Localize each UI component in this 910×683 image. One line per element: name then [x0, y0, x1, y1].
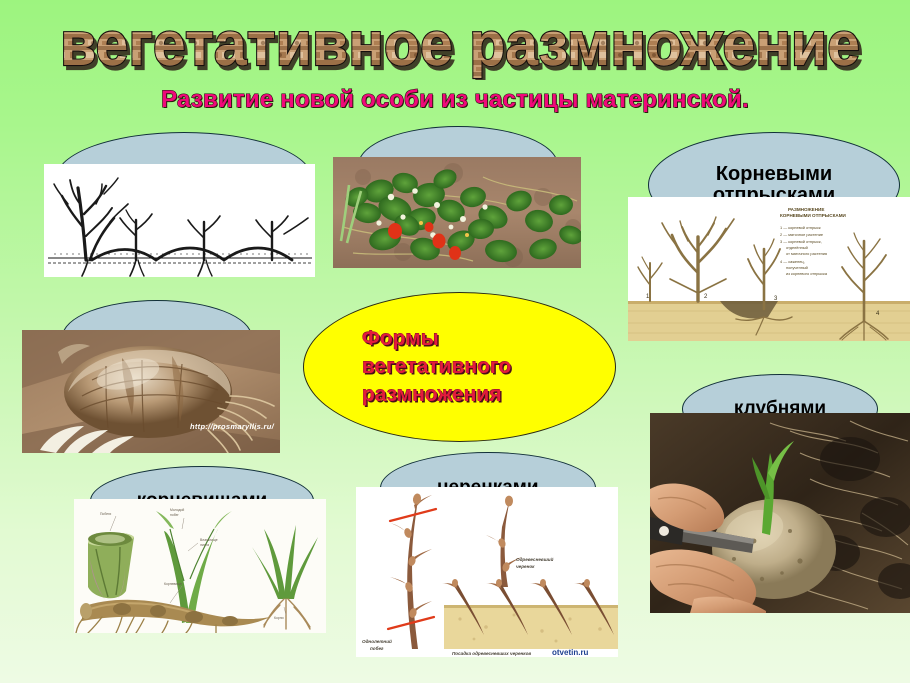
svg-text:побег: побег [370, 645, 384, 651]
panel-image-kornevymi-otpryskami: 1 2 3 4 РАЗМНОЖЕНИЕ КОРНЕВЫМИ ОТПРЫСКАМИ… [628, 197, 910, 341]
svg-text:побег: побег [170, 513, 180, 517]
strawberry-runners-photo [333, 157, 581, 268]
slide-canvas: вегетативное размножение Развитие новой … [0, 0, 910, 683]
svg-text:от маточного растения: от маточного растения [786, 251, 827, 256]
diagram-legend-3: 3 — корневой отпрыск, [780, 239, 822, 244]
svg-text:черенок: черенок [516, 564, 535, 569]
cutting-label-annual-shoot: Однолетний [362, 638, 392, 644]
diagram-legend-4: 4 — саженец, [780, 259, 805, 264]
panel-image-otvodkami [44, 164, 315, 277]
center-line-2: вегетативного [362, 353, 511, 381]
svg-text:отделённый: отделённый [786, 245, 808, 250]
panel-image-lukovicami: http://prosmaryllis.ru/ [22, 330, 280, 453]
panel-image-cherenkami: Одревесневший черенок Однолетний побег П… [356, 487, 618, 657]
panel-cherenkami: черенками [352, 452, 632, 662]
center-line-1: Формы [362, 325, 439, 353]
stem-cuttings-diagram: Одревесневший черенок Однолетний побег П… [356, 487, 618, 657]
panel-image-usami [333, 157, 581, 268]
panel-lukovicami: луковицами [18, 300, 288, 460]
svg-text:из корневого отпрыска: из корневого отпрыска [786, 271, 828, 276]
layering-line-drawing [44, 164, 315, 277]
diagram-legend-1: 1 — корневой отпрыск [780, 225, 821, 230]
cutting-label-hardwood: Одревесневший [516, 556, 554, 562]
annotation-4: Корневище [164, 582, 182, 586]
panel-image-klubnyami [650, 413, 910, 613]
svg-text:полученный: полученный [786, 265, 808, 270]
panel-label-line-1: Корневыми [716, 164, 832, 185]
diagram-legend-2: 2 — маточное растение [780, 232, 823, 237]
potato-tuber-photo [650, 413, 910, 613]
panel-image-kornevishchami: Побеги Молодой побег Влагалище листа Кор… [74, 499, 326, 633]
panel-otvodkami: отводками [38, 132, 328, 282]
svg-text:листа: листа [200, 543, 209, 547]
rhizome-illustration: Побеги Молодой побег Влагалище листа Кор… [74, 499, 326, 633]
diagram-caption-line-1: РАЗМНОЖЕНИЕ [788, 207, 824, 212]
annotation-3: Влагалище [200, 538, 218, 542]
amaryllis-bulb-photo [22, 330, 280, 453]
panel-kornevymi-otpryskami: Корневыми отпрысками [628, 132, 910, 342]
root-suckers-diagram: 1 2 3 4 РАЗМНОЖЕНИЕ КОРНЕВЫМИ ОТПРЫСКАМИ… [628, 197, 910, 341]
cutting-label-planting: Посадка одревесневших черенков [452, 651, 531, 656]
annotation-5: Корни [274, 616, 284, 620]
diagram-caption-line-2: КОРНЕВЫМИ ОТПРЫСКАМИ [780, 213, 846, 218]
panel-usami: усами [330, 126, 590, 272]
watermark-otvetin: otvetin.ru [552, 648, 589, 657]
annotation-2: Молодой [170, 508, 184, 512]
page-title: вегетативное размножение [50, 8, 870, 80]
svg-text:вегетативное размножение: вегетативное размножение [60, 10, 860, 79]
panel-kornevishchami: корневищами [62, 466, 342, 646]
annotation-1: Побеги [100, 512, 111, 516]
title-wordart: вегетативное размножение [50, 8, 870, 80]
center-line-3: размножения [362, 381, 502, 409]
panel-klubnyami: клубнями [640, 374, 910, 614]
subtitle-text: Развитие новой особи из частицы материнс… [0, 86, 910, 114]
center-ellipse: Формы вегетативного размножения [303, 292, 616, 442]
